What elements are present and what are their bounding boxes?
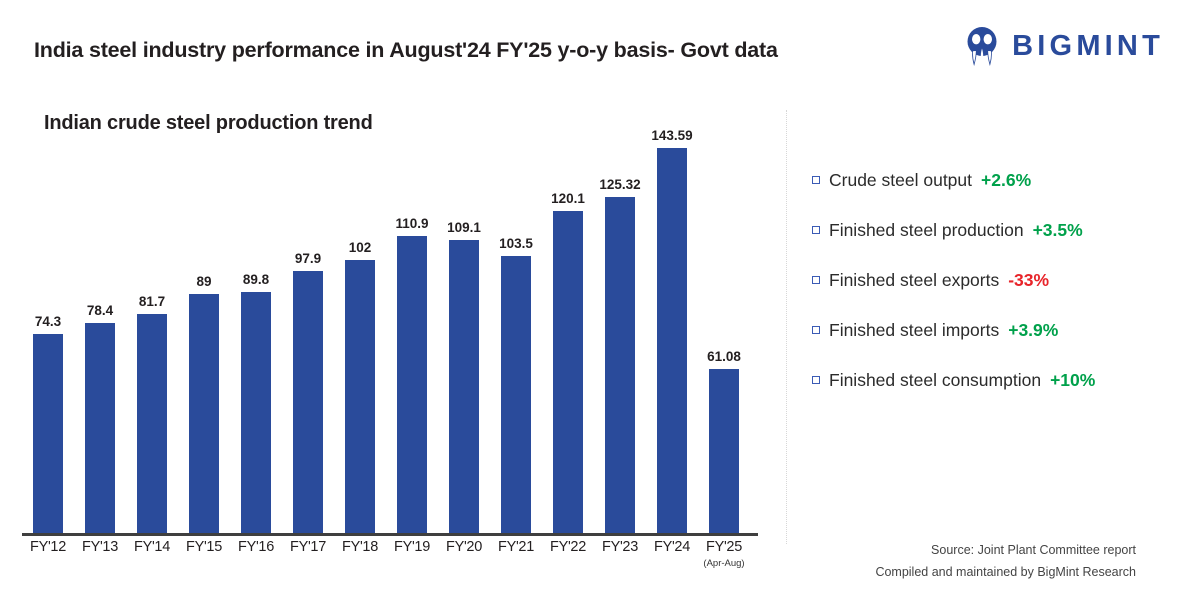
bar[interactable] (657, 148, 687, 533)
bar-slot: 110.9 (386, 120, 438, 533)
bar-value-label: 78.4 (74, 303, 126, 318)
x-axis-tick: FY'14 (126, 539, 178, 555)
square-bullet-icon (812, 226, 820, 234)
x-axis-tick-label: FY'12 (22, 539, 74, 555)
x-axis-tick-label: FY'15 (178, 539, 230, 555)
x-axis-tick: FY'20 (438, 539, 490, 555)
x-axis-tick: FY'12 (22, 539, 74, 555)
brand-name: BIGMINT (1012, 32, 1164, 61)
brand-logo: BIGMINT (963, 26, 1164, 66)
x-axis-tick: FY'13 (74, 539, 126, 555)
bar-value-label: 120.1 (542, 191, 594, 206)
highlight-label: Crude steel output (829, 170, 972, 191)
panel-divider (786, 110, 787, 544)
bar[interactable] (397, 236, 427, 533)
x-axis-tick-label: FY'24 (646, 539, 698, 555)
bar[interactable] (189, 294, 219, 533)
x-axis-tick-label: FY'14 (126, 539, 178, 555)
square-bullet-icon (812, 326, 820, 334)
x-axis-tick: FY'21 (490, 539, 542, 555)
bar-slot: 74.3 (22, 120, 74, 533)
highlights-list: Crude steel output+2.6%Finished steel pr… (812, 170, 1188, 420)
x-axis-tick: FY'25(Apr-Aug) (698, 539, 750, 569)
bar-slot: 61.08 (698, 120, 750, 533)
highlight-label: Finished steel imports (829, 320, 999, 341)
bar[interactable] (501, 256, 531, 534)
bar-slot: 125.32 (594, 120, 646, 533)
bar[interactable] (709, 369, 739, 533)
highlight-item: Finished steel production+3.5% (812, 220, 1188, 241)
infographic-page: India steel industry performance in Augu… (0, 0, 1200, 600)
credit-line: Compiled and maintained by BigMint Resea… (875, 562, 1136, 584)
x-axis-tick: FY'23 (594, 539, 646, 555)
bar-value-label: 110.9 (386, 216, 438, 231)
highlight-label: Finished steel consumption (829, 370, 1041, 391)
x-axis-tick-label: FY'20 (438, 539, 490, 555)
bar[interactable] (293, 271, 323, 533)
bar-slot: 89 (178, 120, 230, 533)
chart-panel: Indian crude steel production trend 74.3… (0, 96, 786, 600)
x-axis-tick-label: FY'25 (698, 539, 750, 555)
x-axis-tick: FY'16 (230, 539, 282, 555)
source-line: Source: Joint Plant Committee report (875, 540, 1136, 562)
square-bullet-icon (812, 276, 820, 284)
bar[interactable] (605, 197, 635, 533)
x-axis-tick-label: FY'17 (282, 539, 334, 555)
highlight-value: +2.6% (981, 170, 1031, 191)
x-axis-tick: FY'18 (334, 539, 386, 555)
bar-slot: 97.9 (282, 120, 334, 533)
square-bullet-icon (812, 176, 820, 184)
bar-value-label: 74.3 (22, 314, 74, 329)
bar-slot: 89.8 (230, 120, 282, 533)
x-axis-tick: FY'24 (646, 539, 698, 555)
bar-value-label: 103.5 (490, 236, 542, 251)
bar[interactable] (85, 323, 115, 533)
square-bullet-icon (812, 376, 820, 384)
bar-slot: 120.1 (542, 120, 594, 533)
highlight-item: Finished steel exports-33% (812, 270, 1188, 291)
x-axis-tick-label: FY'21 (490, 539, 542, 555)
bar-value-label: 61.08 (698, 349, 750, 364)
x-axis-tick: FY'15 (178, 539, 230, 555)
bar[interactable] (449, 240, 479, 533)
highlight-item: Crude steel output+2.6% (812, 170, 1188, 191)
highlight-label: Finished steel production (829, 220, 1024, 241)
x-axis-tick-label: FY'19 (386, 539, 438, 555)
bar-slot: 78.4 (74, 120, 126, 533)
bar[interactable] (553, 211, 583, 533)
highlight-value: +3.5% (1033, 220, 1083, 241)
x-axis-tick-label: FY'16 (230, 539, 282, 555)
page-title: India steel industry performance in Augu… (34, 38, 778, 63)
x-axis-tick-label: FY'22 (542, 539, 594, 555)
bar-value-label: 97.9 (282, 251, 334, 266)
bar-value-label: 125.32 (594, 177, 646, 192)
highlight-value: +3.9% (1008, 320, 1058, 341)
bar-value-label: 81.7 (126, 294, 178, 309)
bar-value-label: 109.1 (438, 220, 490, 235)
header: India steel industry performance in Augu… (0, 0, 1200, 96)
bar-value-label: 89 (178, 274, 230, 289)
highlight-value: +10% (1050, 370, 1095, 391)
x-axis-tick: FY'19 (386, 539, 438, 555)
x-axis-line (22, 533, 758, 536)
bar[interactable] (33, 334, 63, 533)
highlight-label: Finished steel exports (829, 270, 999, 291)
x-axis-tick-label: FY'23 (594, 539, 646, 555)
bar[interactable] (137, 314, 167, 533)
bar-chart-plot: 74.378.481.78989.897.9102110.9109.1103.5… (22, 120, 764, 533)
x-axis-tick-label: FY'13 (74, 539, 126, 555)
x-axis-tick: FY'22 (542, 539, 594, 555)
bigmint-logo-icon (963, 26, 1001, 66)
x-axis-tick-sublabel: (Apr-Aug) (698, 558, 750, 569)
bar-slot: 102 (334, 120, 386, 533)
bar-slot: 143.59 (646, 120, 698, 533)
bar-value-label: 89.8 (230, 272, 282, 287)
highlight-item: Finished steel consumption+10% (812, 370, 1188, 391)
bar[interactable] (345, 260, 375, 533)
bar-value-label: 102 (334, 240, 386, 255)
highlight-value: -33% (1008, 270, 1049, 291)
bar-slot: 109.1 (438, 120, 490, 533)
bar-value-label: 143.59 (646, 128, 698, 143)
bar[interactable] (241, 292, 271, 533)
bar-slot: 103.5 (490, 120, 542, 533)
footer: Source: Joint Plant Committee report Com… (875, 540, 1136, 584)
x-axis-tick-label: FY'18 (334, 539, 386, 555)
bar-slot: 81.7 (126, 120, 178, 533)
x-axis-tick: FY'17 (282, 539, 334, 555)
highlight-item: Finished steel imports+3.9% (812, 320, 1188, 341)
x-axis-labels: FY'12FY'13FY'14FY'15FY'16FY'17FY'18FY'19… (22, 539, 764, 589)
